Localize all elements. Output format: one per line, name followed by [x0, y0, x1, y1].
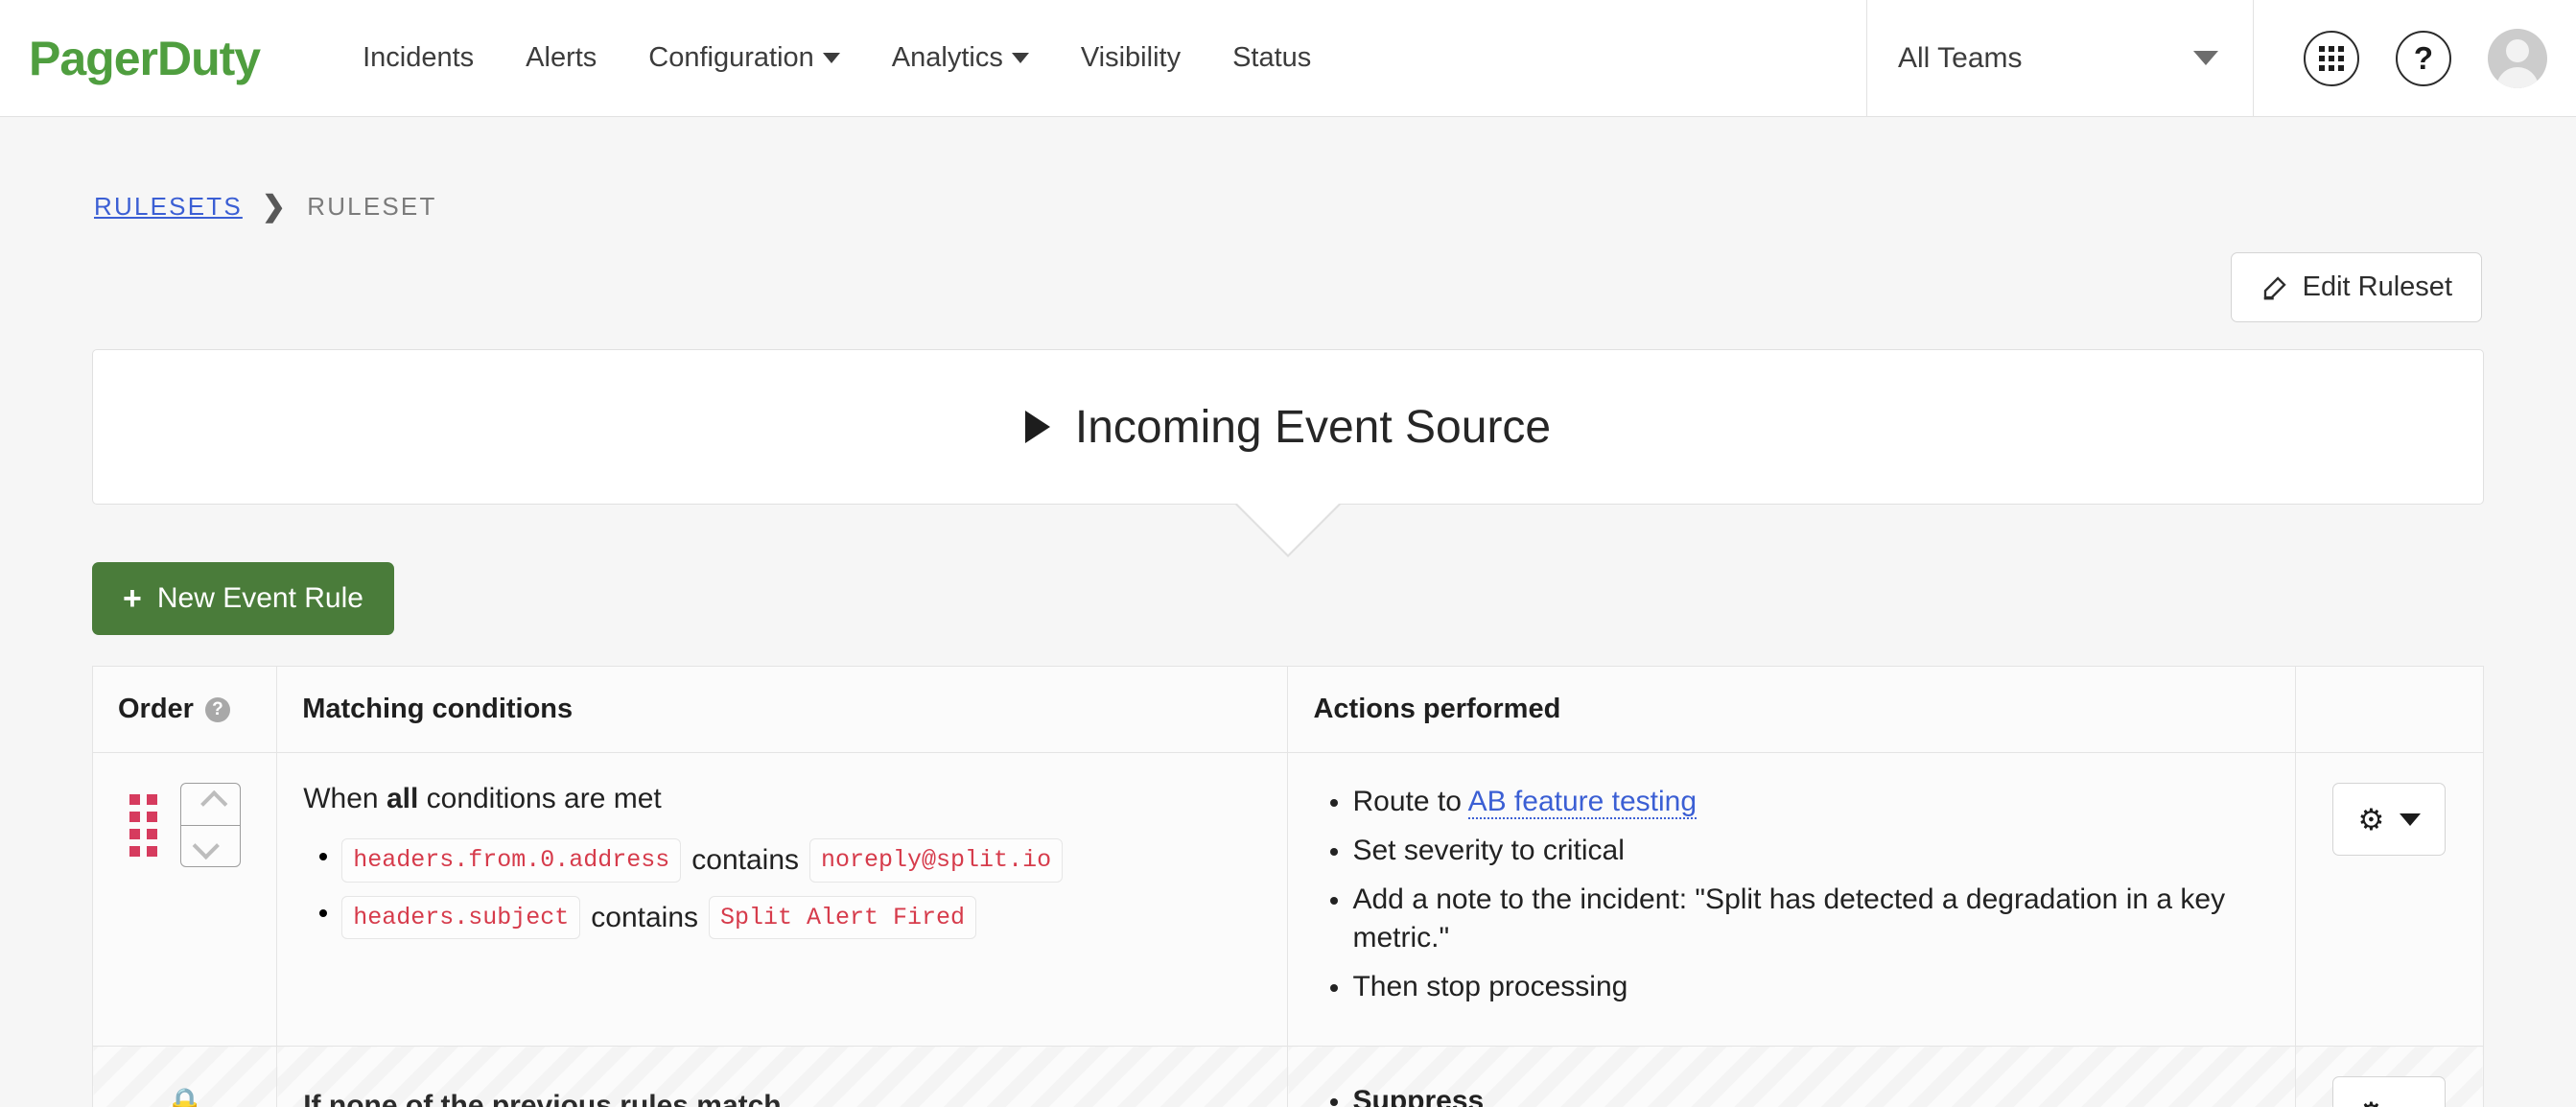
nav-item-label: Incidents [363, 42, 474, 74]
default-rule-menu-cell: ⚙ [2295, 1047, 2483, 1107]
chevron-right-icon: ❯ [262, 190, 288, 224]
actions-performed-cell: Route to AB feature testing Set severity… [1288, 753, 2295, 1047]
move-up-button[interactable] [181, 784, 240, 825]
condition-value-chip: Split Alert Fired [709, 896, 976, 940]
list-item: headers.from.0.addresscontainsnoreply@sp… [341, 838, 1261, 883]
chevron-down-icon [2193, 51, 2218, 65]
grid-dots-glyph [2319, 46, 2344, 71]
grid-apps-icon[interactable] [2304, 31, 2359, 86]
page-title: Incoming Event Source [1075, 401, 1551, 454]
event-rules-table: Order ? Matching conditions Actions perf… [92, 666, 2484, 1107]
row-menu-cell: ⚙ [2295, 753, 2483, 1047]
new-event-rule-button[interactable]: + New Event Rule [92, 562, 394, 635]
top-navigation-bar: PagerDuty Incidents Alerts Configuration… [0, 0, 2576, 117]
nav-item-alerts[interactable]: Alerts [500, 42, 622, 74]
chevron-up-icon [200, 790, 227, 817]
nav-item-label: Visibility [1081, 42, 1181, 74]
chevron-down-icon [193, 833, 220, 860]
page-content: RULESETS ❯ RULESET Edit Ruleset Incoming… [0, 117, 2576, 1107]
panel-pointer-inner [1237, 504, 1339, 554]
drag-dots-icon[interactable] [129, 794, 157, 857]
lock-icon: 🔒 [94, 1048, 275, 1107]
move-down-button[interactable] [181, 825, 240, 867]
toolbar-row: Edit Ruleset [92, 224, 2484, 322]
table-header: Order ? Matching conditions Actions perf… [93, 667, 2484, 753]
condition-list: headers.from.0.addresscontainsnoreply@sp… [303, 838, 1261, 939]
table-body: When all conditions are met headers.from… [93, 753, 2484, 1107]
nav-item-incidents[interactable]: Incidents [337, 42, 500, 74]
list-item: Suppress [1352, 1082, 2268, 1107]
breadcrumb: RULESETS ❯ RULESET [92, 117, 2484, 224]
teams-selector-value: All Teams [1898, 42, 2023, 75]
condition-value-chip: noreply@split.io [809, 838, 1063, 883]
list-item: headers.subjectcontainsSplit Alert Fired [341, 896, 1261, 940]
condition-operator: contains [580, 902, 709, 933]
edit-ruleset-button[interactable]: Edit Ruleset [2231, 252, 2482, 322]
when-conditions-text: When all conditions are met [303, 783, 1261, 815]
nav-item-label: Alerts [526, 42, 597, 74]
caret-down-icon [2400, 813, 2421, 826]
column-header-order: Order ? [93, 667, 277, 753]
list-item: Set severity to critical [1352, 832, 2268, 870]
list-item: Route to AB feature testing [1352, 783, 2268, 821]
gear-icon: ⚙ [2357, 1098, 2384, 1107]
teams-selector[interactable]: All Teams [1866, 0, 2254, 116]
column-header-actions-performed: Actions performed [1288, 667, 2295, 753]
question-mark-glyph: ? [2414, 42, 2433, 74]
action-list: Route to AB feature testing Set severity… [1314, 783, 2268, 1005]
when-strong: all [386, 783, 418, 814]
condition-field-chip: headers.from.0.address [341, 838, 681, 883]
pencil-edit-icon [2260, 273, 2289, 302]
edit-ruleset-label: Edit Ruleset [2303, 271, 2452, 303]
incoming-event-source-panel[interactable]: Incoming Event Source [92, 349, 2484, 505]
gear-icon: ⚙ [2357, 805, 2384, 835]
column-header-matching-conditions: Matching conditions [277, 667, 1288, 753]
question-circle-icon[interactable]: ? [205, 697, 230, 722]
row-settings-menu-button[interactable]: ⚙ [2332, 783, 2446, 856]
action-list: Suppress Then stop processing [1314, 1082, 2268, 1107]
pagerduty-logo[interactable]: PagerDuty [29, 31, 260, 86]
default-rule-label: If none of the previous rules match [278, 1048, 1286, 1107]
nav-left-group: PagerDuty Incidents Alerts Configuration… [0, 0, 1866, 116]
column-header-order-label: Order [118, 694, 194, 725]
list-item: Then stop processing [1352, 968, 2268, 1006]
triangle-right-icon[interactable] [1025, 411, 1050, 443]
help-icon[interactable]: ? [2396, 31, 2451, 86]
nav-item-label: Analytics [892, 42, 1003, 74]
default-rule-label-cell: If none of the previous rules match [277, 1047, 1288, 1107]
nav-item-analytics[interactable]: Analytics [866, 42, 1055, 74]
incoming-event-source-title-group: Incoming Event Source [1025, 401, 1551, 454]
chevron-down-icon [1012, 53, 1029, 63]
when-prefix: When [303, 783, 386, 814]
plus-icon: + [123, 582, 142, 615]
breadcrumb-current-ruleset: RULESET [307, 192, 436, 222]
user-avatar[interactable] [2488, 29, 2547, 88]
column-header-menu [2295, 667, 2483, 753]
nav-item-visibility[interactable]: Visibility [1055, 42, 1206, 74]
new-event-rule-label: New Event Rule [157, 582, 363, 615]
table-row: When all conditions are met headers.from… [93, 753, 2484, 1047]
primary-nav-items: Incidents Alerts Configuration Analytics… [337, 42, 1337, 74]
nav-right-group: ? [2254, 0, 2576, 116]
default-rule-actions-cell: Suppress Then stop processing [1288, 1047, 2295, 1107]
when-suffix: conditions are met [418, 783, 661, 814]
default-row-settings-menu-button[interactable]: ⚙ [2332, 1076, 2446, 1107]
lock-cell: 🔒 [93, 1047, 277, 1107]
condition-field-chip: headers.subject [341, 896, 580, 940]
nav-item-configuration[interactable]: Configuration [622, 42, 866, 74]
action-prefix: Route to [1352, 786, 1467, 817]
breadcrumb-link-rulesets[interactable]: RULESETS [94, 192, 243, 222]
order-cell [93, 753, 277, 1047]
chevron-down-icon [823, 53, 840, 63]
condition-operator: contains [681, 844, 809, 876]
list-item: Add a note to the incident: "Split has d… [1352, 881, 2268, 957]
table-header-row: Order ? Matching conditions Actions perf… [93, 667, 2484, 753]
matching-conditions-cell: When all conditions are met headers.from… [277, 753, 1288, 1047]
nav-item-label: Configuration [648, 42, 814, 74]
nav-item-label: Status [1232, 42, 1311, 74]
table-row-default-rule: 🔒 If none of the previous rules match Su… [93, 1047, 2484, 1107]
order-stepper[interactable] [180, 783, 241, 867]
nav-item-status[interactable]: Status [1206, 42, 1337, 74]
route-target-link[interactable]: AB feature testing [1468, 786, 1697, 819]
